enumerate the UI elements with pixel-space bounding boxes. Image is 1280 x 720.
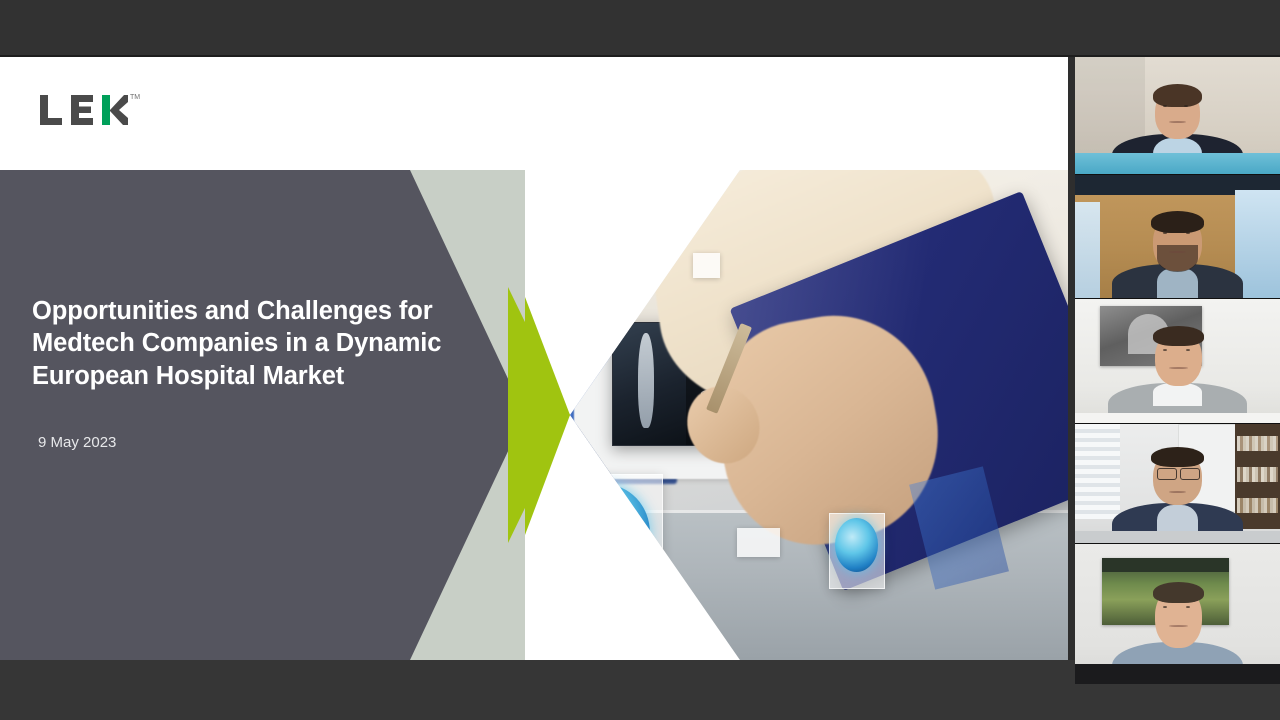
participant-4-mouth [1169,491,1185,493]
bookshelf-row [1237,436,1278,451]
participant-2-scene [1075,175,1280,298]
presentation-slide: TM Opportunities and Challenges for Medt… [0,57,1068,660]
participant-5-eye [1163,606,1167,608]
participant-4-desk [1075,531,1280,543]
slide-header-strip [0,57,1068,170]
eyeglasses-icon [1180,468,1200,480]
participant-4-scene [1075,424,1280,543]
participant-3-desk [1075,413,1280,423]
participant-5-eye [1186,606,1190,608]
screen-stage: TM Opportunities and Challenges for Medt… [0,0,1280,720]
xray-full-body [638,333,654,429]
hologram-chip [693,253,720,278]
participant-4-hair [1151,447,1204,467]
window-left [1075,202,1100,298]
participant-2-shirt [1157,268,1198,298]
participant-tile[interactable] [1075,423,1280,543]
participant-video-column[interactable] [1075,57,1280,680]
lek-logo: TM [40,93,140,127]
participant-1-laptop [1075,153,1280,174]
participant-5-laptop [1075,664,1280,684]
painting-sky [1102,558,1229,572]
lek-logo-mark [40,93,128,127]
participant-1-scene [1075,57,1280,174]
participant-3-eye [1186,349,1190,351]
participant-tile[interactable] [1075,298,1280,423]
participant-1-eye [1184,105,1188,107]
title-block: Opportunities and Challenges for Medtech… [32,295,502,451]
participant-2-beard [1157,245,1198,272]
trademark-symbol: TM [130,94,140,101]
participant-3-scene [1075,299,1280,423]
participant-3-collar [1153,383,1202,405]
hologram-tag [737,528,780,557]
chevron-green [508,287,570,543]
slide-date: 9 May 2023 [38,434,502,451]
participant-2-eye [1163,232,1167,234]
participant-1-hair [1153,84,1202,107]
participant-tile[interactable] [1075,543,1280,684]
participant-5-hair [1153,582,1204,603]
brain-scan-hologram-small [835,518,878,572]
bookshelf-row [1237,498,1278,513]
participant-5-scene [1075,544,1280,684]
participant-3-hair [1153,326,1204,346]
bookshelf-row [1237,467,1278,482]
window-blinds [1075,424,1120,519]
eyeglasses-icon [1157,468,1177,480]
participant-2-hair [1151,211,1204,233]
participant-tile[interactable] [1075,174,1280,298]
participant-3-eye [1163,349,1167,351]
top-letterbox-bar [0,0,1280,57]
participant-2-eye [1186,232,1190,234]
page-title: Opportunities and Challenges for Medtech… [32,295,502,392]
participant-tile[interactable] [1075,57,1280,174]
